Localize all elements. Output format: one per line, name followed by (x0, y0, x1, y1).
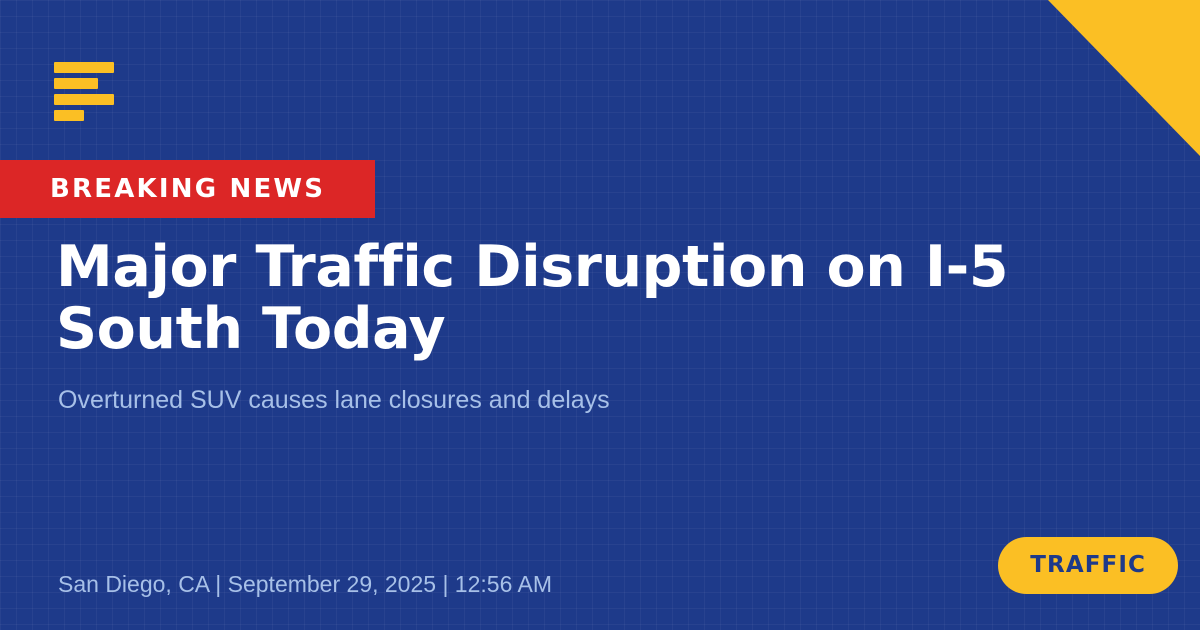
category-badge-label: TRAFFIC (1030, 554, 1146, 577)
subtitle-text: Overturned SUV causes lane closures and … (58, 384, 998, 417)
logo-bar-2 (54, 78, 98, 89)
headline-text: Major Traffic Disruption on I-5 South To… (56, 236, 1116, 360)
breaking-news-label: BREAKING NEWS (50, 176, 325, 202)
breaking-news-badge: BREAKING NEWS (0, 160, 375, 218)
logo-bar-3 (54, 94, 114, 105)
breaking-news-card: BREAKING NEWS Major Traffic Disruption o… (0, 0, 1200, 630)
logo-bar-4 (54, 110, 84, 121)
news-brand-logo (54, 62, 114, 121)
logo-bar-1 (54, 62, 114, 73)
yellow-corner-triangle-decoration (1048, 0, 1200, 156)
category-badge-traffic: TRAFFIC (998, 537, 1178, 594)
footer-meta-line: San Diego, CA | September 29, 2025 | 12:… (58, 570, 552, 598)
